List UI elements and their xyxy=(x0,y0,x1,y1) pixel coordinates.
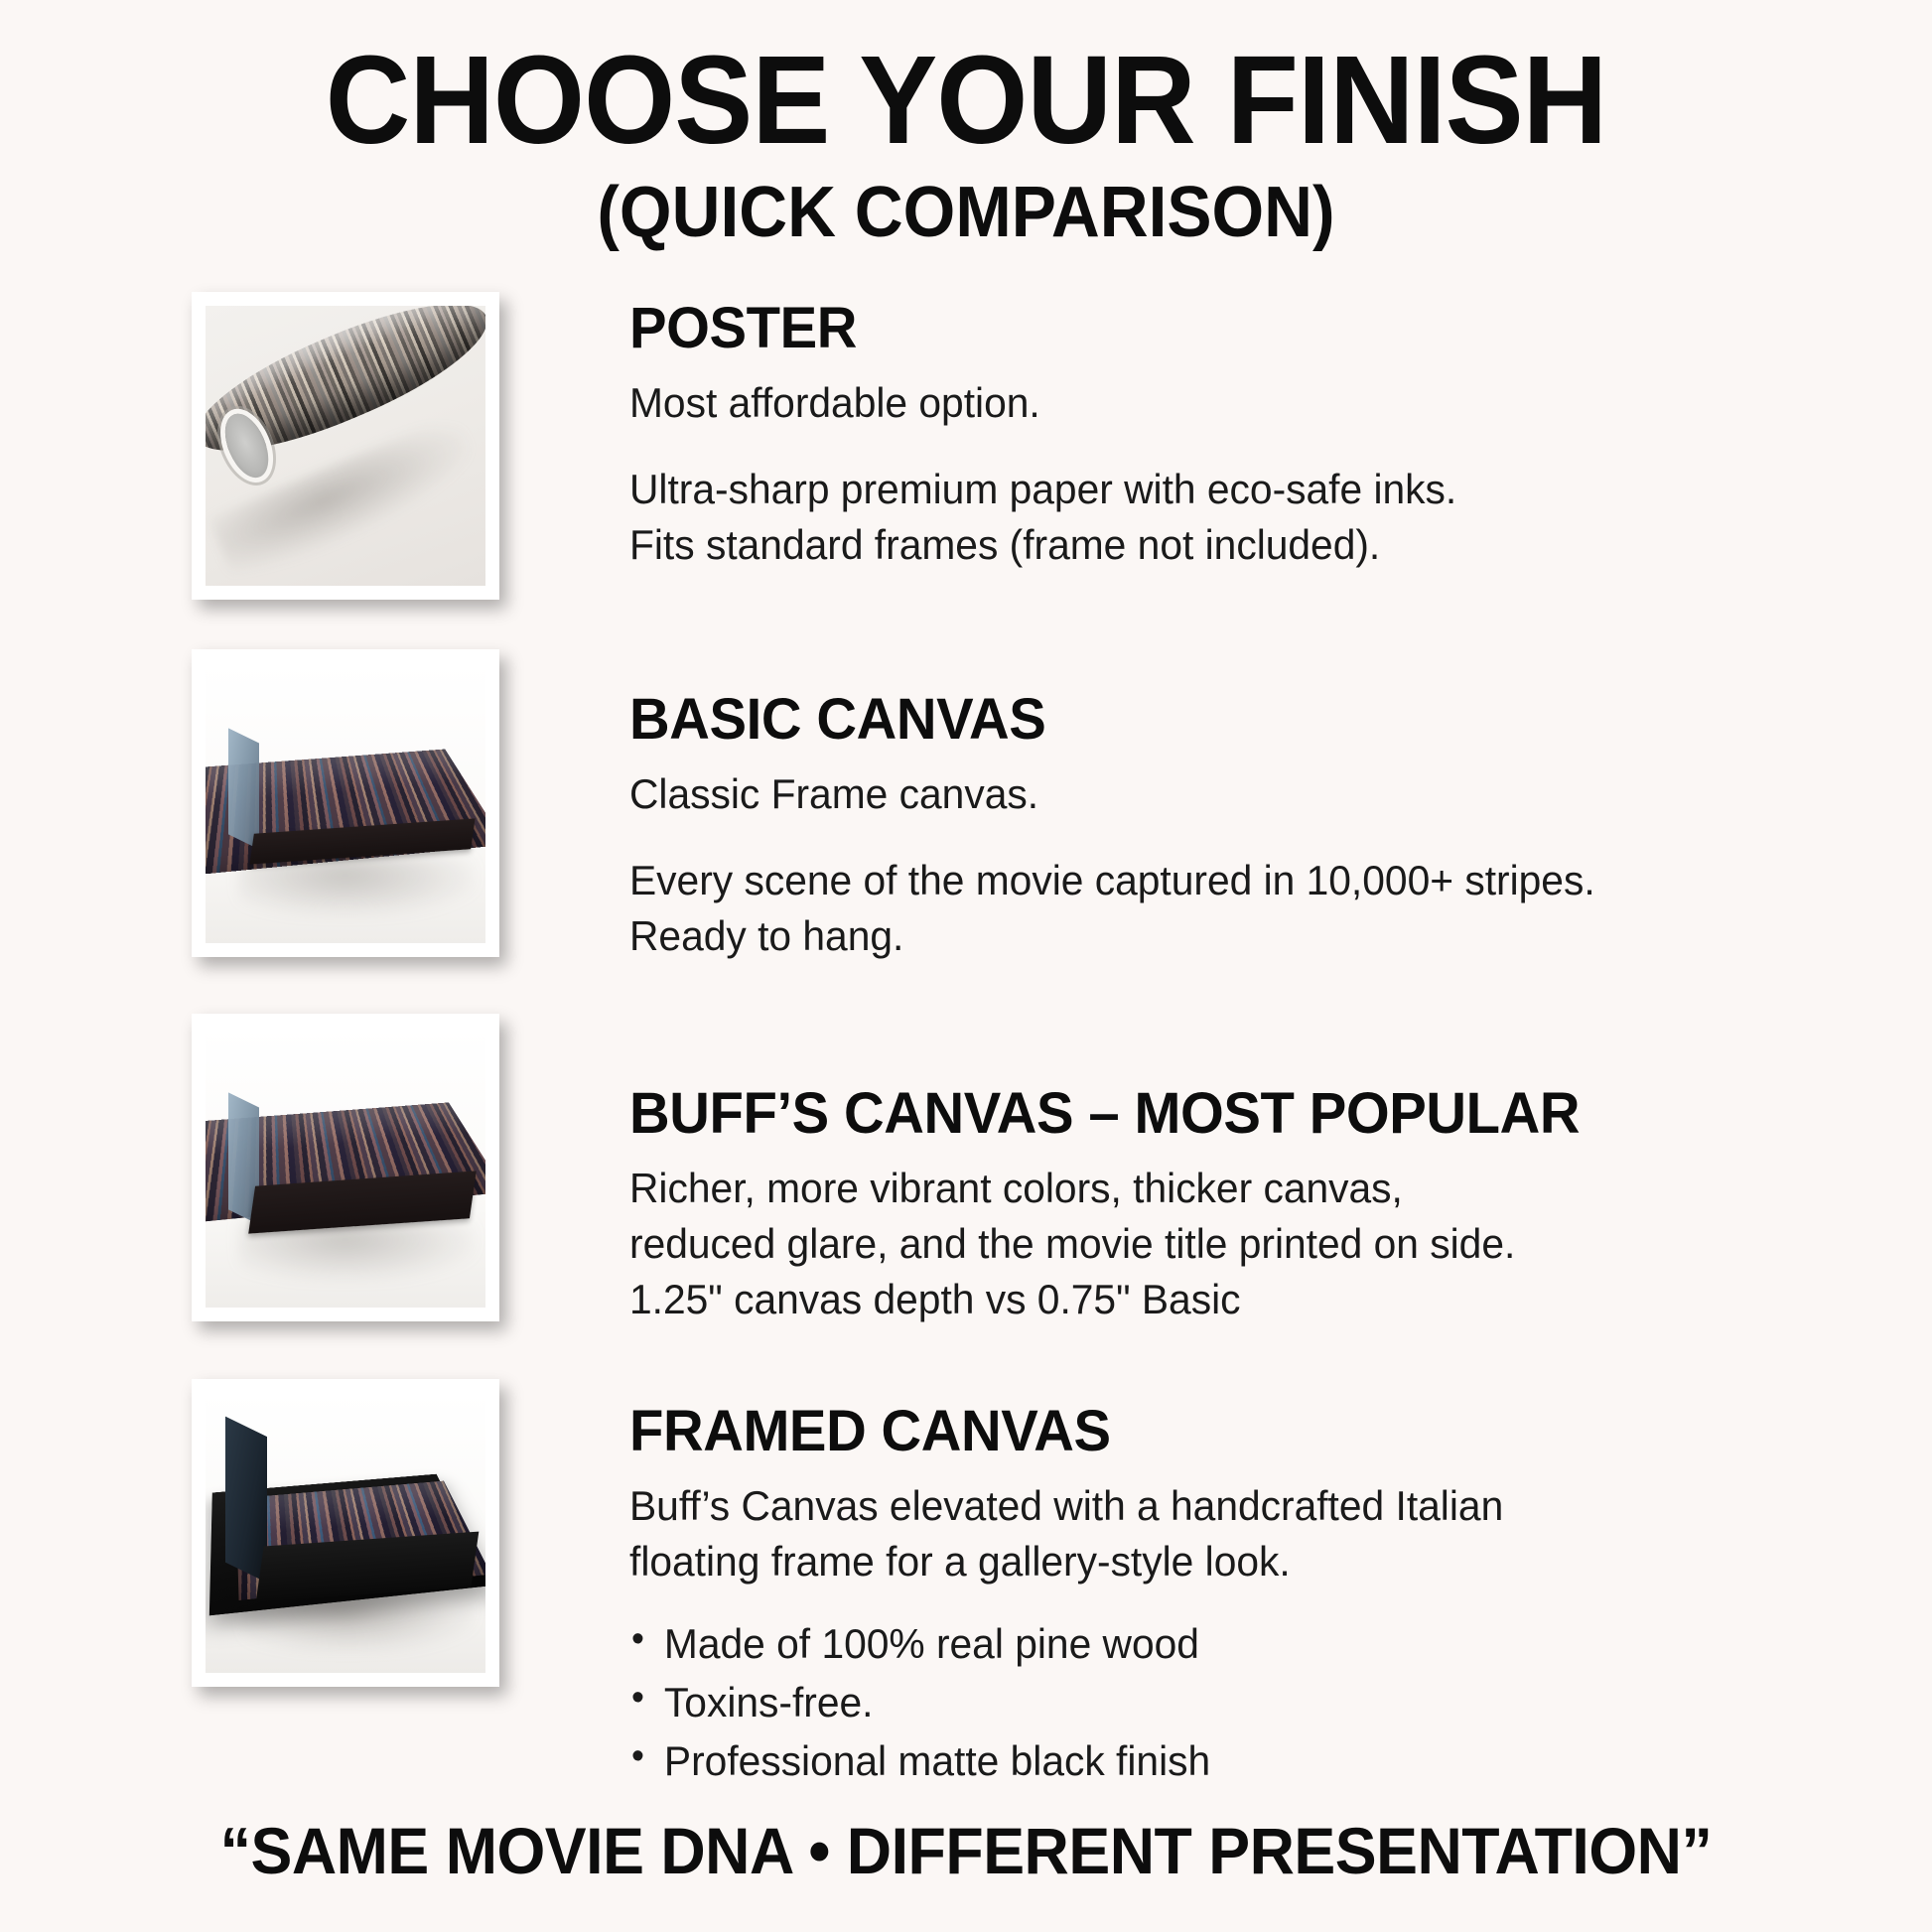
basic-canvas-lead: Classic Frame canvas. xyxy=(629,766,1893,821)
comparison-row-buffs-canvas: BUFF’S CANVAS – MOST POPULAR Richer, mor… xyxy=(0,1014,1932,1327)
framed-canvas-title: FRAMED CANVAS xyxy=(629,1401,1893,1461)
poster-lead: Most affordable option. xyxy=(629,375,1893,430)
basic-canvas-text-block: BASIC CANVAS Classic Frame canvas. Every… xyxy=(629,649,1932,964)
buffs-canvas-text-block: BUFF’S CANVAS – MOST POPULAR Richer, mor… xyxy=(629,1014,1932,1327)
list-item: Made of 100% real pine wood xyxy=(629,1615,1893,1674)
poster-body-line: Fits standard frames (frame not included… xyxy=(629,517,1893,573)
poster-body: Ultra-sharp premium paper with eco-safe … xyxy=(629,462,1893,574)
poster-scene xyxy=(206,306,485,586)
basic-canvas-body-line: Every scene of the movie captured in 10,… xyxy=(629,853,1893,908)
framed-canvas-body-line: Buff’s Canvas elevated with a handcrafte… xyxy=(629,1478,1893,1534)
footer: “SAME MOVIE DNA • DIFFERENT PRESENTATION… xyxy=(0,1813,1932,1888)
buffs-canvas-body-line: reduced glare, and the movie title print… xyxy=(629,1216,1893,1272)
basic-canvas-scene xyxy=(206,663,485,943)
framed-canvas-body: Buff’s Canvas elevated with a handcrafte… xyxy=(629,1478,1893,1590)
poster-title: POSTER xyxy=(629,298,1893,358)
basic-canvas-body: Every scene of the movie captured in 10,… xyxy=(629,853,1893,965)
page-subtitle: (QUICK COMPARISON) xyxy=(58,173,1873,253)
list-item: Professional matte black finish xyxy=(629,1732,1893,1791)
poster-text-block: POSTER Most affordable option. Ultra-sha… xyxy=(629,292,1932,573)
buffs-canvas-title: BUFF’S CANVAS – MOST POPULAR xyxy=(629,1083,1893,1144)
page-title: CHOOSE YOUR FINISH xyxy=(58,34,1873,167)
poster-roll-photo xyxy=(206,306,485,586)
comparison-row-poster: POSTER Most affordable option. Ultra-sha… xyxy=(0,292,1932,600)
comparison-row-basic-canvas: BASIC CANVAS Classic Frame canvas. Every… xyxy=(0,649,1932,964)
framed-canvas-body-line: floating frame for a gallery-style look. xyxy=(629,1534,1893,1589)
framed-canvas-bullet-list: Made of 100% real pine wood Toxins-free.… xyxy=(629,1615,1893,1790)
basic-canvas-photo xyxy=(206,663,485,943)
poster-thumbnail-card xyxy=(192,292,499,600)
framed-canvas-left-rail xyxy=(225,1417,267,1583)
basic-canvas-thumbnail-card xyxy=(192,649,499,957)
finish-comparison-infographic: CHOOSE YOUR FINISH (QUICK COMPARISON) PO… xyxy=(0,0,1932,1932)
buffs-canvas-body-line: 1.25" canvas depth vs 0.75" Basic xyxy=(629,1272,1893,1327)
framed-canvas-photo xyxy=(206,1393,485,1673)
buffs-canvas-body-line: Richer, more vibrant colors, thicker can… xyxy=(629,1161,1893,1216)
buffs-canvas-thumbnail-card xyxy=(192,1014,499,1321)
footer-tagline: “SAME MOVIE DNA • DIFFERENT PRESENTATION… xyxy=(49,1813,1884,1888)
framed-canvas-scene xyxy=(206,1393,485,1673)
list-item: Toxins-free. xyxy=(629,1674,1893,1732)
poster-body-line: Ultra-sharp premium paper with eco-safe … xyxy=(629,462,1893,517)
buffs-canvas-scene xyxy=(206,1028,485,1308)
header: CHOOSE YOUR FINISH (QUICK COMPARISON) xyxy=(0,0,1932,252)
basic-canvas-title: BASIC CANVAS xyxy=(629,689,1893,750)
buffs-canvas-body: Richer, more vibrant colors, thicker can… xyxy=(629,1161,1893,1328)
buffs-canvas-photo xyxy=(206,1028,485,1308)
comparison-row-framed-canvas: FRAMED CANVAS Buff’s Canvas elevated wit… xyxy=(0,1379,1932,1790)
framed-canvas-thumbnail-card xyxy=(192,1379,499,1687)
framed-canvas-text-block: FRAMED CANVAS Buff’s Canvas elevated wit… xyxy=(629,1379,1932,1790)
basic-canvas-body-line: Ready to hang. xyxy=(629,908,1893,964)
basic-canvas-side-edge xyxy=(228,729,259,850)
